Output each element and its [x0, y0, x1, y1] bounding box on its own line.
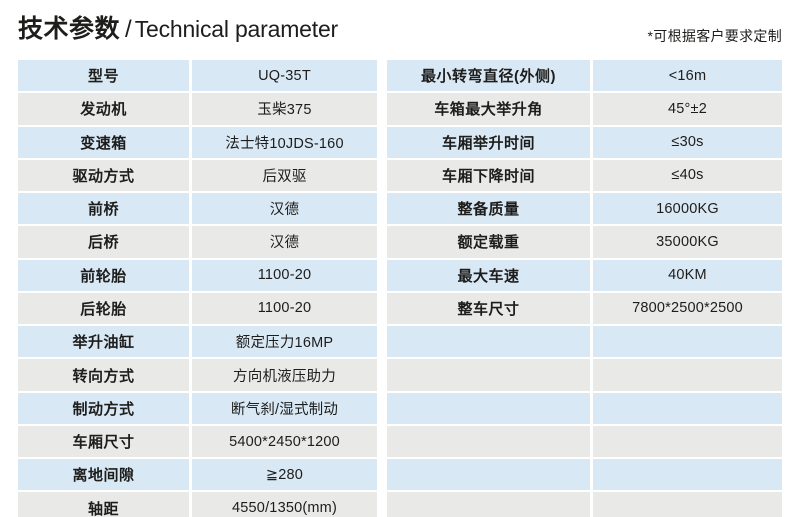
table-row: 额定载重35000KG	[387, 226, 782, 257]
table-row: 驱动方式后双驱	[18, 160, 377, 191]
spec-value: 45°±2	[593, 93, 782, 124]
spec-label	[387, 459, 590, 490]
table-row: 离地间隙≧280	[18, 459, 377, 490]
table-row: 转向方式方向机液压助力	[18, 359, 377, 390]
spec-value: 35000KG	[593, 226, 782, 257]
table-row-empty	[387, 326, 782, 357]
spec-table-left: 型号UQ-35T 发动机玉柴375 变速箱法士特10JDS-160 驱动方式后双…	[18, 60, 377, 498]
spec-label: 驱动方式	[18, 160, 189, 191]
table-row-empty	[387, 359, 782, 390]
spec-value	[593, 326, 782, 357]
spec-label	[387, 426, 590, 457]
table-row-empty	[387, 393, 782, 424]
table-row: 整备质量16000KG	[387, 193, 782, 224]
spec-value	[593, 393, 782, 424]
spec-label: 最大车速	[387, 260, 590, 291]
spec-value: <16m	[593, 60, 782, 91]
page-title-separator: /	[120, 16, 135, 43]
spec-value: 1100-20	[192, 293, 377, 324]
spec-value: 5400*2450*1200	[192, 426, 377, 457]
table-row: 车厢尺寸5400*2450*1200	[18, 426, 377, 457]
spec-value	[593, 359, 782, 390]
table-row: 型号UQ-35T	[18, 60, 377, 91]
spec-value: 4550/1350(mm)	[192, 492, 377, 517]
spec-value: UQ-35T	[192, 60, 377, 91]
table-row-empty	[387, 426, 782, 457]
technical-parameter-page: 技术参数/Technical parameter *可根据客户要求定制 型号UQ…	[0, 0, 800, 517]
spec-label: 后轮胎	[18, 293, 189, 324]
spec-label: 最小转弯直径(外侧)	[387, 60, 590, 91]
spec-label	[387, 326, 590, 357]
table-row: 前轮胎1100-20	[18, 260, 377, 291]
table-row: 后轮胎1100-20	[18, 293, 377, 324]
spec-label: 车厢尺寸	[18, 426, 189, 457]
table-row: 轴距4550/1350(mm)	[18, 492, 377, 517]
page-title-english: Technical parameter	[135, 16, 338, 42]
spec-value: 汉德	[192, 226, 377, 257]
spec-value	[593, 459, 782, 490]
table-row: 车箱最大举升角45°±2	[387, 93, 782, 124]
table-row: 后桥汉德	[18, 226, 377, 257]
spec-label: 整备质量	[387, 193, 590, 224]
table-row: 变速箱法士特10JDS-160	[18, 127, 377, 158]
spec-label: 后桥	[18, 226, 189, 257]
spec-label: 前桥	[18, 193, 189, 224]
spec-label: 车厢下降时间	[387, 160, 590, 191]
spec-value: ≤30s	[593, 127, 782, 158]
table-row-empty	[387, 492, 782, 517]
customization-note: *可根据客户要求定制	[648, 26, 782, 46]
spec-label: 转向方式	[18, 359, 189, 390]
spec-value: 后双驱	[192, 160, 377, 191]
table-row: 举升油缸额定压力16MP	[18, 326, 377, 357]
spec-value: 7800*2500*2500	[593, 293, 782, 324]
spec-value: ≧280	[192, 459, 377, 490]
spec-label: 额定载重	[387, 226, 590, 257]
spec-label	[387, 359, 590, 390]
spec-label: 型号	[18, 60, 189, 91]
page-title-chinese: 技术参数	[18, 15, 120, 43]
table-row: 整车尺寸7800*2500*2500	[387, 293, 782, 324]
spec-label: 整车尺寸	[387, 293, 590, 324]
spec-label: 制动方式	[18, 393, 189, 424]
spec-label	[387, 492, 590, 517]
page-title: 技术参数/Technical parameter	[18, 14, 338, 48]
spec-value: 1100-20	[192, 260, 377, 291]
spec-label: 轴距	[18, 492, 189, 517]
table-row: 前桥汉德	[18, 193, 377, 224]
spec-value: 40KM	[593, 260, 782, 291]
spec-value: 汉德	[192, 193, 377, 224]
table-row: 最大车速40KM	[387, 260, 782, 291]
page-header: 技术参数/Technical parameter *可根据客户要求定制	[0, 0, 800, 58]
spec-label: 车厢举升时间	[387, 127, 590, 158]
table-row: 车厢举升时间≤30s	[387, 127, 782, 158]
spec-label: 举升油缸	[18, 326, 189, 357]
spec-label: 发动机	[18, 93, 189, 124]
spec-label: 变速箱	[18, 127, 189, 158]
spec-tables-container: 型号UQ-35T 发动机玉柴375 变速箱法士特10JDS-160 驱动方式后双…	[18, 60, 782, 498]
spec-table-right: 最小转弯直径(外侧)<16m 车箱最大举升角45°±2 车厢举升时间≤30s 车…	[387, 60, 782, 498]
spec-label: 前轮胎	[18, 260, 189, 291]
table-row: 制动方式断气刹/湿式制动	[18, 393, 377, 424]
spec-value: 断气刹/湿式制动	[192, 393, 377, 424]
spec-value: 方向机液压助力	[192, 359, 377, 390]
table-row: 发动机玉柴375	[18, 93, 377, 124]
spec-value: 额定压力16MP	[192, 326, 377, 357]
table-row: 最小转弯直径(外侧)<16m	[387, 60, 782, 91]
table-row: 车厢下降时间≤40s	[387, 160, 782, 191]
spec-value: 16000KG	[593, 193, 782, 224]
spec-value	[593, 426, 782, 457]
spec-label	[387, 393, 590, 424]
spec-value: 法士特10JDS-160	[192, 127, 377, 158]
spec-label: 车箱最大举升角	[387, 93, 590, 124]
table-row-empty	[387, 459, 782, 490]
spec-label: 离地间隙	[18, 459, 189, 490]
spec-value: 玉柴375	[192, 93, 377, 124]
spec-value: ≤40s	[593, 160, 782, 191]
spec-value	[593, 492, 782, 517]
